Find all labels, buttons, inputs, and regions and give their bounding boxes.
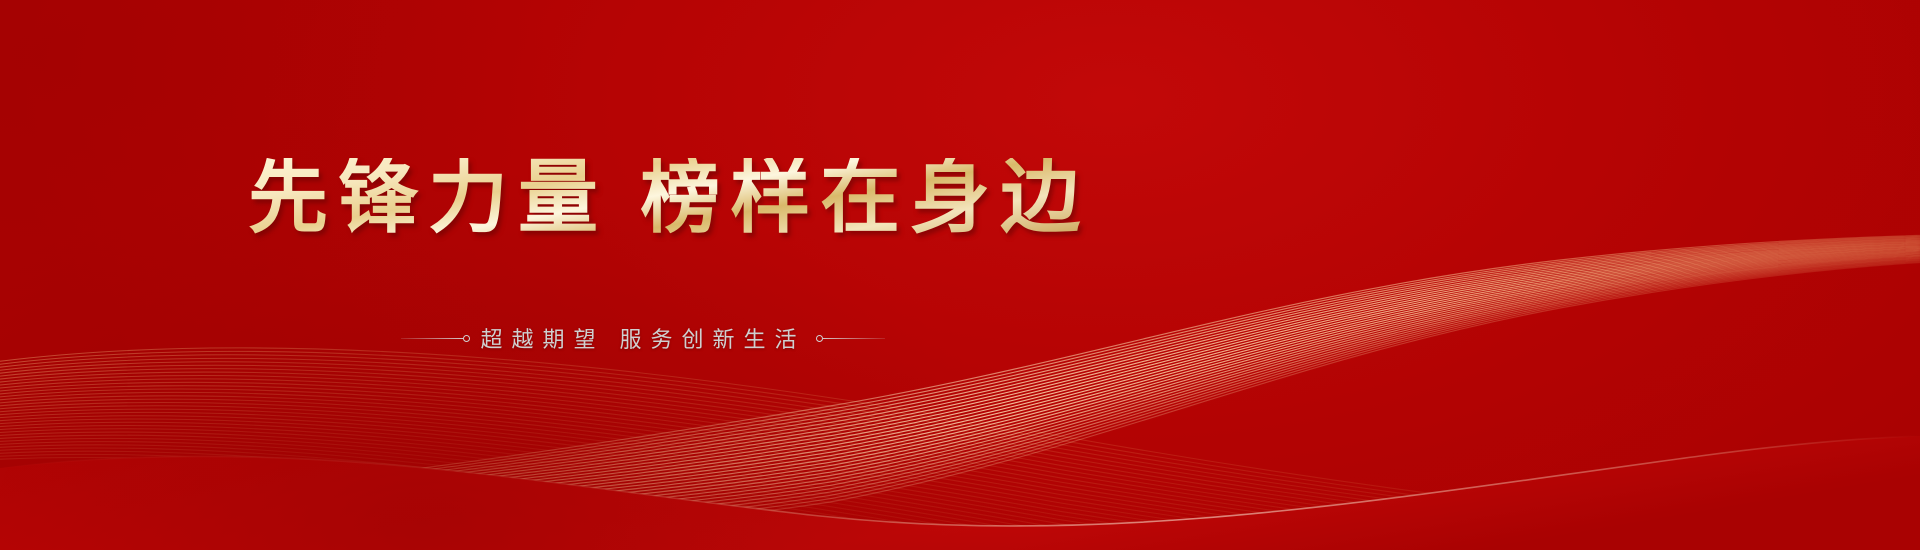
decorative-dot-right bbox=[816, 335, 823, 342]
page-title: 先锋力量 榜样在身边 bbox=[248, 158, 1090, 238]
decorative-line-left bbox=[401, 338, 463, 339]
decorative-rule-left bbox=[401, 335, 470, 342]
foreground-wave-fill bbox=[0, 436, 1920, 550]
promotional-banner: 先锋力量 榜样在身边 超越期望 服务创新生活 bbox=[0, 0, 1920, 550]
decorative-rule-right bbox=[816, 335, 885, 342]
page-subtitle: 超越期望 服务创新生活 bbox=[480, 322, 805, 354]
foreground-wave bbox=[0, 320, 1920, 550]
subtitle-row: 超越期望 服务创新生活 bbox=[248, 322, 1038, 354]
decorative-line-right bbox=[823, 338, 885, 339]
decorative-dot-left bbox=[463, 335, 470, 342]
